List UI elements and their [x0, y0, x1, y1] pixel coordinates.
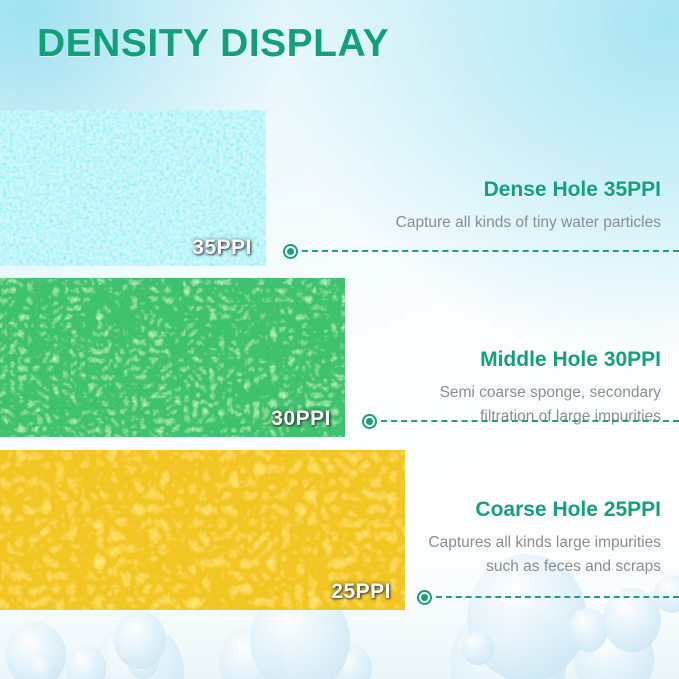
swatch-label-middle: 30PPI [271, 407, 331, 431]
connector-dense [283, 243, 679, 259]
infographic-canvas: DENSITY DISPLAY 3 [0, 0, 679, 679]
description-coarse-line-2: such as feces and scraps [428, 555, 661, 579]
swatch-label-coarse: 25PPI [331, 580, 391, 604]
info-block-coarse: Coarse Hole 25PPI Captures all kinds lar… [428, 498, 661, 579]
heading-middle: Middle Hole 30PPI [440, 348, 661, 372]
swatch-middle: 30PPI [0, 278, 345, 437]
heading-dense: Dense Hole 35PPI [396, 178, 661, 202]
dashed-line-dense [302, 250, 679, 252]
heading-coarse: Coarse Hole 25PPI [428, 498, 661, 522]
connector-coarse [417, 589, 679, 605]
swatch-coarse: 25PPI [0, 450, 405, 610]
bullet-dot-icon-dense [283, 244, 298, 259]
page-title: DENSITY DISPLAY [37, 22, 389, 66]
bullet-dot-icon-coarse [417, 590, 432, 605]
bullet-dot-icon-middle [362, 414, 377, 429]
description-dense-line-1: Capture all kinds of tiny water particle… [396, 211, 661, 235]
dashed-line-middle [381, 420, 679, 422]
connector-middle [362, 413, 679, 429]
info-block-dense: Dense Hole 35PPI Capture all kinds of ti… [396, 178, 661, 235]
description-coarse-line-1: Captures all kinds large impurities [428, 531, 661, 555]
swatch-label-dense: 35PPI [192, 236, 252, 260]
description-middle-line-1: Semi coarse sponge, secondary [440, 381, 661, 405]
swatch-dense: 35PPI [0, 110, 266, 266]
dashed-line-coarse [436, 596, 679, 598]
